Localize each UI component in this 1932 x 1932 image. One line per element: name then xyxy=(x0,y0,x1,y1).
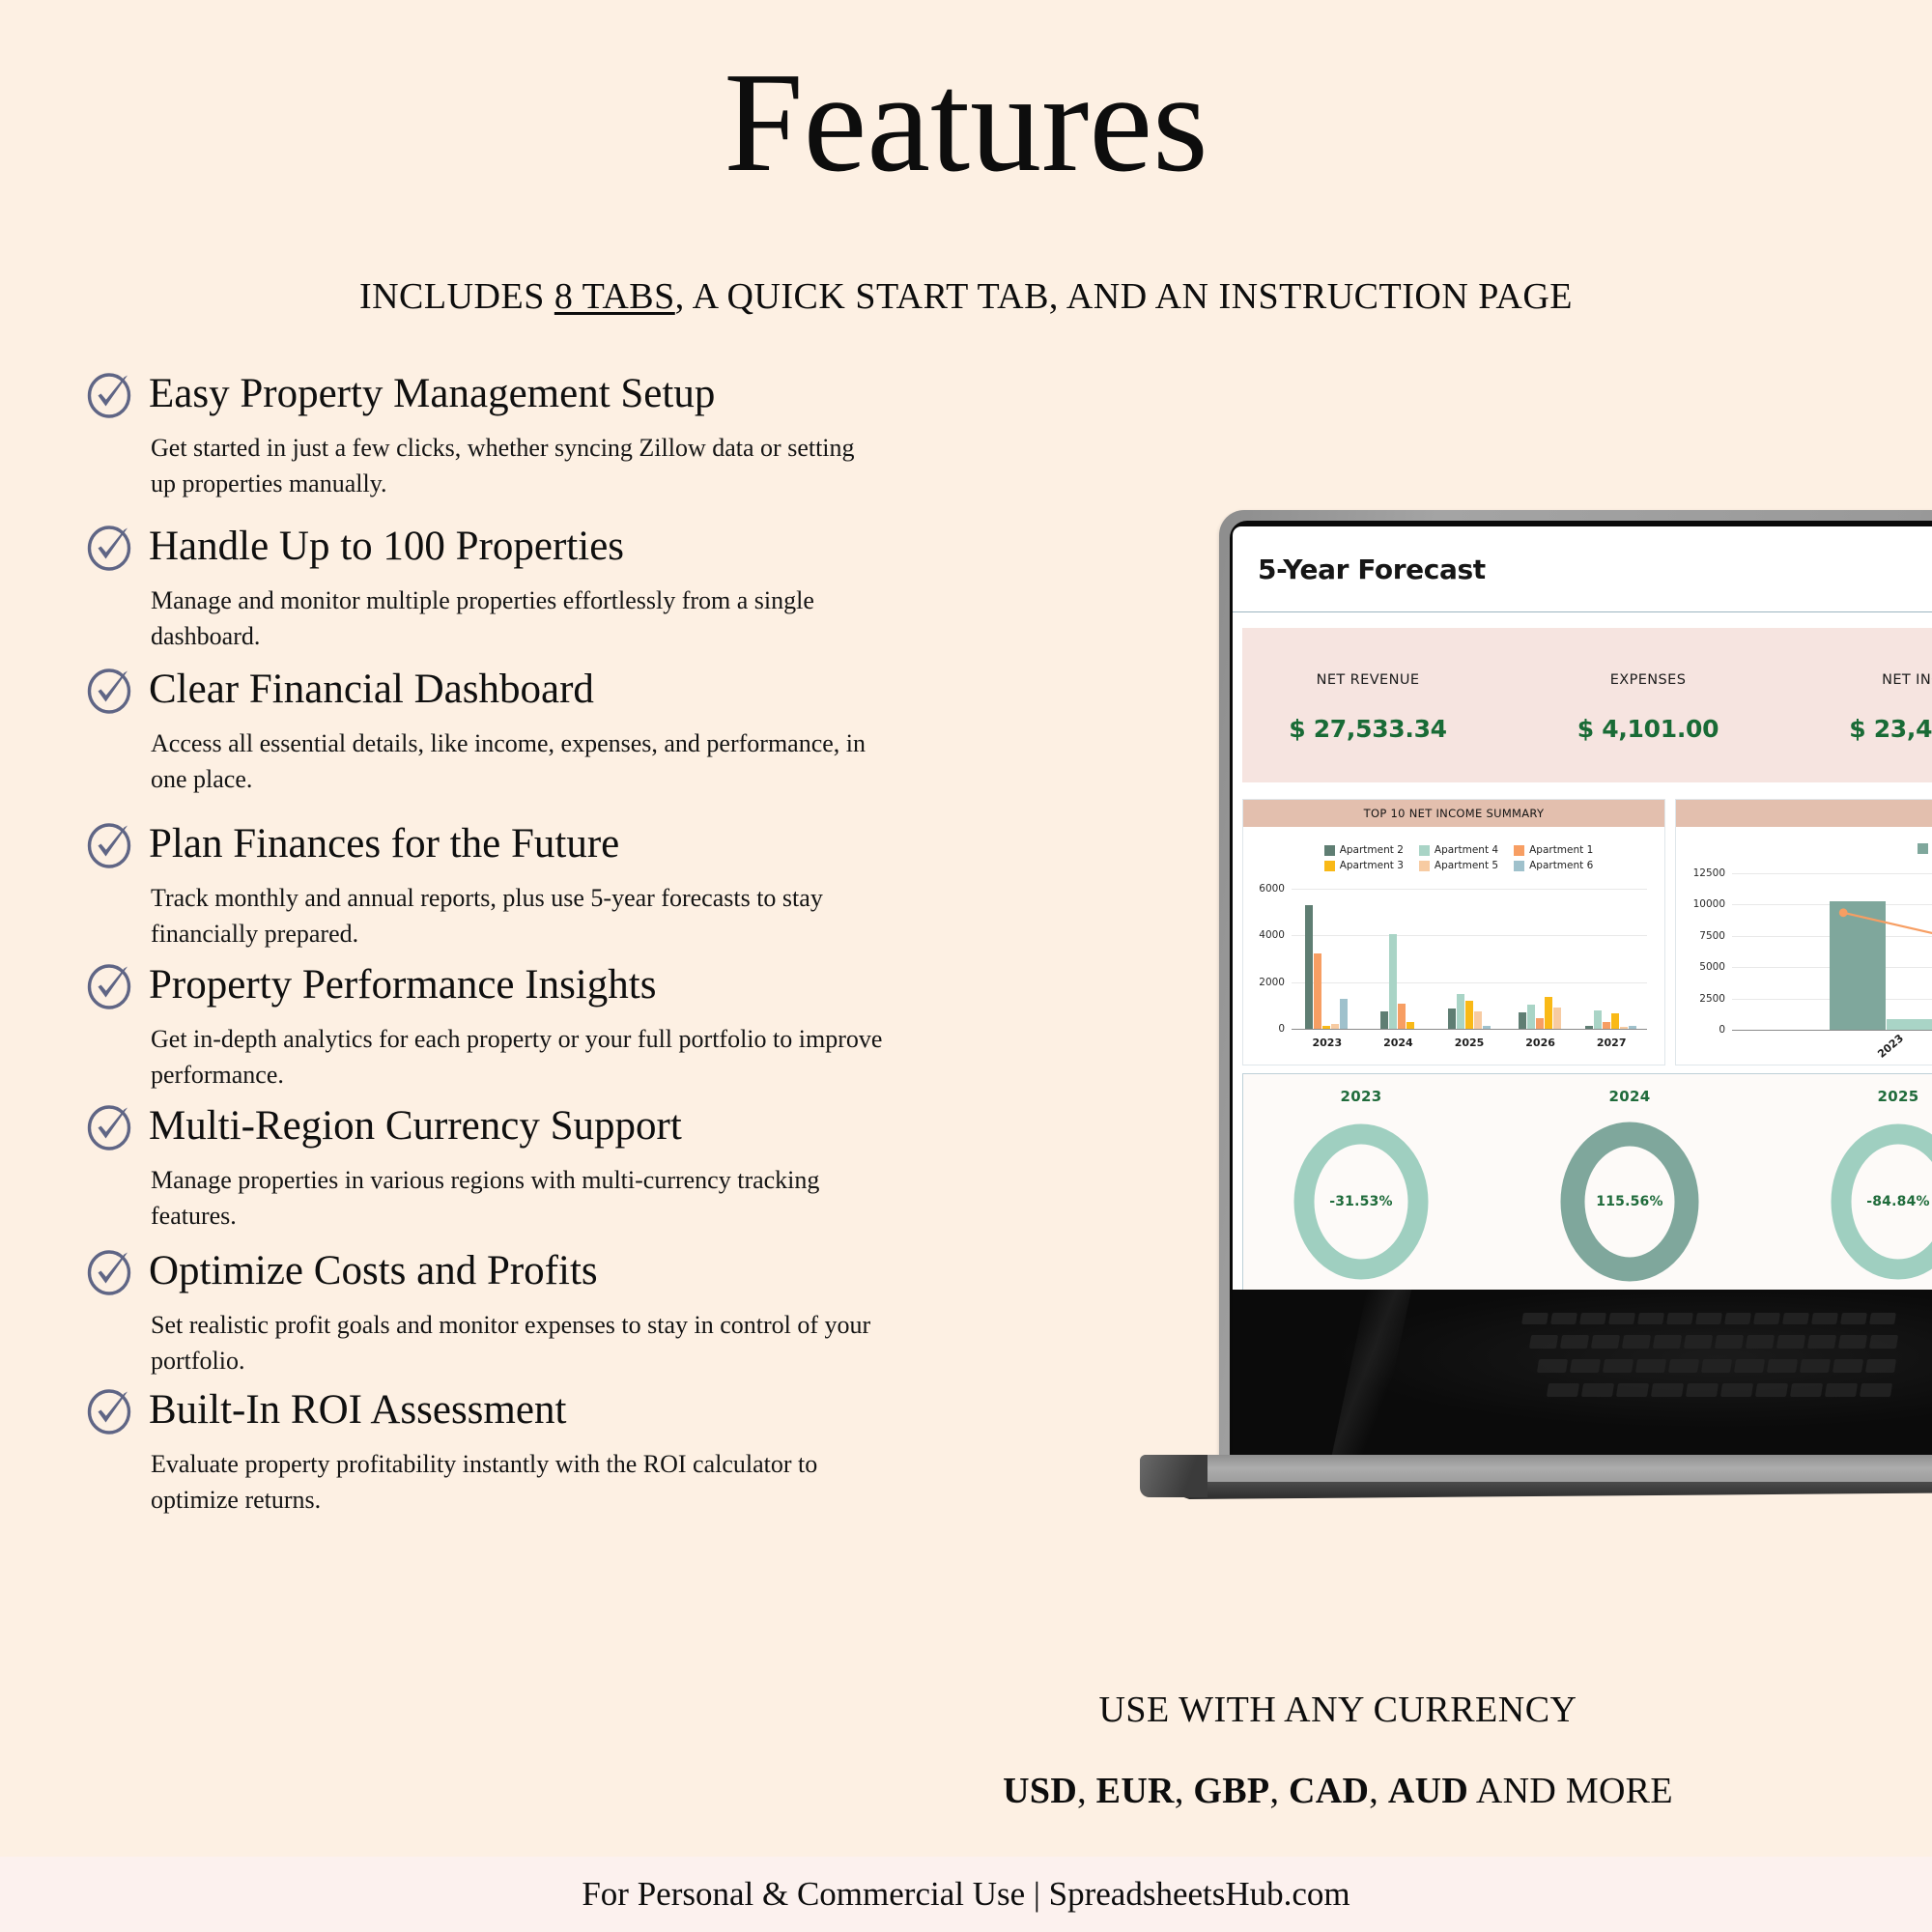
bar xyxy=(1629,1026,1636,1029)
keyboard-key xyxy=(1734,1359,1765,1373)
bar xyxy=(1620,1027,1628,1029)
bar xyxy=(1611,1013,1619,1029)
footer-bar: For Personal & Commercial Use | Spreadsh… xyxy=(0,1857,1932,1932)
kpi-net-revenue: NET REVENUE $ 27,533.34 xyxy=(1242,672,1493,743)
feature-title: Built-In ROI Assessment xyxy=(149,1388,566,1432)
keyboard-key xyxy=(1782,1313,1809,1324)
keyboard-key xyxy=(1838,1335,1867,1349)
currency-code: GBP xyxy=(1193,1771,1269,1811)
keyboard-key xyxy=(1637,1313,1664,1324)
donut-year: 2023 xyxy=(1255,1088,1467,1105)
legend-swatch xyxy=(1419,845,1430,856)
keyboard-key xyxy=(1695,1313,1722,1324)
keyboard-key xyxy=(1529,1335,1558,1349)
keyboard-key xyxy=(1560,1335,1589,1349)
feature-item: Optimize Costs and Profits Set realistic… xyxy=(85,1246,885,1379)
y-axis-tick: 12500 xyxy=(1693,867,1725,879)
x-axis-label: 2026 xyxy=(1525,1037,1555,1049)
grid-line xyxy=(1732,1030,1932,1031)
bar-group xyxy=(1380,889,1414,1029)
feature-description: Set realistic profit goals and monitor e… xyxy=(151,1308,885,1379)
x-axis-label: 2024 xyxy=(1383,1037,1413,1049)
donut-year: 2024 xyxy=(1523,1088,1736,1105)
subtitle-prefix: INCLUDES xyxy=(359,276,554,317)
feature-description: Get started in just a few clicks, whethe… xyxy=(151,431,885,502)
growth-donut-panel: 2023 -31.53% 2024 115.56% 2025 xyxy=(1242,1073,1932,1290)
keyboard-key xyxy=(1776,1335,1805,1349)
y-axis-tick: 4000 xyxy=(1259,929,1285,941)
keyboard-key xyxy=(1724,1313,1751,1324)
keyboard-key xyxy=(1622,1335,1651,1349)
legend-swatch xyxy=(1514,845,1524,856)
feature-title: Handle Up to 100 Properties xyxy=(149,525,624,568)
check-circle-icon xyxy=(85,369,135,419)
bar xyxy=(1594,1010,1602,1029)
keyboard-key xyxy=(1653,1335,1682,1349)
feature-header: Property Performance Insights xyxy=(85,960,885,1010)
donut-2024: 2024 115.56% xyxy=(1523,1088,1736,1285)
donut-ring: -31.53% xyxy=(1289,1119,1434,1285)
spreadsheet-screen: 5-Year Forecast NET REVENUE $ 27,533.34 … xyxy=(1233,526,1932,1290)
kpi-net-income: NET INCOME $ 23,432.34 xyxy=(1803,672,1932,743)
bar xyxy=(1305,905,1313,1029)
feature-item: Built-In ROI Assessment Evaluate propert… xyxy=(85,1385,885,1519)
donut-ring: -84.84% xyxy=(1826,1119,1932,1285)
keyboard-key xyxy=(1666,1313,1693,1324)
bar xyxy=(1545,997,1552,1029)
keyboard-key xyxy=(1755,1383,1788,1397)
feature-item: Easy Property Management Setup Get start… xyxy=(85,369,885,502)
legend-swatch xyxy=(1514,861,1524,871)
keyboard-key xyxy=(1635,1359,1666,1373)
legend-item: Series 1 xyxy=(1918,842,1932,854)
y-axis-tick: 0 xyxy=(1719,1024,1725,1036)
currency-code: USD xyxy=(1003,1771,1077,1811)
kpi-expenses: EXPENSES $ 4,101.00 xyxy=(1522,672,1774,743)
keyboard-key xyxy=(1807,1335,1836,1349)
bar xyxy=(1519,1012,1526,1029)
legend-label: Apartment 2 xyxy=(1340,844,1404,856)
keyboard-key xyxy=(1537,1359,1568,1373)
feature-header: Handle Up to 100 Properties xyxy=(85,522,885,572)
y-axis-tick: 7500 xyxy=(1699,930,1725,942)
keyboard-key xyxy=(1715,1335,1744,1349)
kpi-label: NET INCOME xyxy=(1803,672,1932,688)
legend-swatch xyxy=(1419,861,1430,871)
keyboard-key xyxy=(1616,1383,1649,1397)
bar xyxy=(1483,1026,1491,1029)
check-circle-icon xyxy=(85,1385,135,1435)
donut-2023: 2023 -31.53% xyxy=(1255,1088,1467,1285)
currency-block: USE WITH ANY CURRENCY USD, EUR, GBP, CAD… xyxy=(744,1689,1932,1812)
keyboard-key xyxy=(1790,1383,1823,1397)
legend-item: Apartment 1 xyxy=(1514,844,1593,856)
legend-label: Apartment 5 xyxy=(1435,860,1498,871)
check-circle-icon xyxy=(85,665,135,715)
keyboard-key xyxy=(1570,1359,1601,1373)
keyboard-key xyxy=(1550,1313,1577,1324)
laptop-base xyxy=(1140,1455,1932,1505)
bar xyxy=(1389,934,1397,1029)
bar xyxy=(1603,1022,1610,1029)
keyboard-key xyxy=(1651,1383,1684,1397)
chart-banner xyxy=(1676,800,1932,827)
y-axis-tick: 6000 xyxy=(1259,883,1285,895)
currency-heading: USE WITH ANY CURRENCY xyxy=(744,1689,1932,1731)
currency-code: CAD xyxy=(1289,1771,1369,1811)
keyboard-key xyxy=(1753,1313,1780,1324)
legend-swatch xyxy=(1918,843,1928,854)
bar xyxy=(1553,1008,1561,1029)
keyboard-key xyxy=(1668,1359,1699,1373)
subtitle: INCLUDES 8 TABS, A QUICK START TAB, AND … xyxy=(0,275,1932,318)
feature-title: Optimize Costs and Profits xyxy=(149,1249,598,1293)
legend-swatch xyxy=(1324,845,1335,856)
kpi-band: NET REVENUE $ 27,533.34 EXPENSES $ 4,101… xyxy=(1242,628,1932,782)
y-axis-tick: 2500 xyxy=(1699,993,1725,1005)
keyboard-key xyxy=(1865,1359,1896,1373)
chart-plot: 025005000750010000125002023 xyxy=(1732,873,1932,1030)
feature-header: Clear Financial Dashboard xyxy=(85,665,885,715)
grid-line xyxy=(1292,1029,1647,1030)
keyboard-key xyxy=(1581,1383,1614,1397)
bar xyxy=(1380,1011,1388,1029)
yearly-summary-chart: Series 1Series 2 02500500075001000012500… xyxy=(1675,799,1932,1065)
legend-item: Apartment 4 xyxy=(1419,844,1498,856)
x-axis-label: 2025 xyxy=(1455,1037,1485,1049)
kpi-label: NET REVENUE xyxy=(1242,672,1493,688)
keyboard-key xyxy=(1547,1383,1579,1397)
feature-item: Property Performance Insights Get in-dep… xyxy=(85,960,885,1094)
bar xyxy=(1322,1026,1330,1029)
keyboard-key xyxy=(1833,1359,1863,1373)
laptop-base-top xyxy=(1140,1455,1932,1484)
bar xyxy=(1474,1011,1482,1029)
chart-plot: 020004000600020232024202520262027 xyxy=(1292,889,1647,1029)
feature-title: Easy Property Management Setup xyxy=(149,372,715,415)
laptop-base-front xyxy=(1140,1482,1932,1499)
bar-group xyxy=(1448,889,1491,1029)
feature-item: Multi-Region Currency Support Manage pro… xyxy=(85,1101,885,1235)
bar xyxy=(1331,1024,1339,1029)
feature-description: Manage and monitor multiple properties e… xyxy=(151,583,885,655)
y-axis-tick: 0 xyxy=(1278,1023,1285,1035)
keyboard-key xyxy=(1840,1313,1867,1324)
bar xyxy=(1314,953,1321,1029)
legend-item: Apartment 3 xyxy=(1324,860,1404,871)
keyboard-key xyxy=(1579,1313,1606,1324)
kpi-value: $ 27,533.34 xyxy=(1242,715,1493,743)
feature-header: Plan Finances for the Future xyxy=(85,819,885,869)
donut-year: 2025 xyxy=(1792,1088,1932,1105)
feature-description: Access all essential details, like incom… xyxy=(151,726,885,798)
legend-label: Apartment 6 xyxy=(1529,860,1593,871)
currency-code: EUR xyxy=(1096,1771,1175,1811)
feature-header: Optimize Costs and Profits xyxy=(85,1246,885,1296)
keyboard-key xyxy=(1825,1383,1858,1397)
check-circle-icon xyxy=(85,960,135,1010)
check-circle-icon xyxy=(85,819,135,869)
keyboard-key xyxy=(1608,1313,1635,1324)
bar xyxy=(1448,1009,1456,1029)
keyboard-key xyxy=(1869,1335,1898,1349)
keyboard-key xyxy=(1686,1383,1719,1397)
feature-description: Get in-depth analytics for each property… xyxy=(151,1022,885,1094)
feature-header: Built-In ROI Assessment xyxy=(85,1385,885,1435)
bar xyxy=(1527,1005,1535,1029)
legend-item: Apartment 2 xyxy=(1324,844,1404,856)
feature-title: Property Performance Insights xyxy=(149,963,656,1007)
feature-title: Plan Finances for the Future xyxy=(149,822,619,866)
keyboard-glare xyxy=(1330,1290,1411,1459)
currency-tail: AND MORE xyxy=(1468,1771,1673,1811)
currency-list: USD, EUR, GBP, CAD, AUD AND MORE xyxy=(744,1770,1932,1812)
bar-group xyxy=(1519,889,1561,1029)
legend-item: Apartment 6 xyxy=(1514,860,1593,871)
feature-title: Multi-Region Currency Support xyxy=(149,1104,682,1148)
bar xyxy=(1585,1026,1593,1029)
chart-legend: Series 1Series 2 xyxy=(1918,842,1932,854)
laptop-keyboard-deck xyxy=(1233,1290,1932,1459)
subtitle-suffix: , A QUICK START TAB, AND AN INSTRUCTION … xyxy=(675,276,1573,317)
donut-value: -31.53% xyxy=(1289,1194,1434,1209)
feature-item: Handle Up to 100 Properties Manage and m… xyxy=(85,522,885,655)
feature-description: Evaluate property profitability instantl… xyxy=(151,1447,885,1519)
chart-banner: TOP 10 NET INCOME SUMMARY xyxy=(1243,800,1664,827)
sheet-title: 5-Year Forecast xyxy=(1258,554,1486,585)
keyboard-key xyxy=(1746,1335,1775,1349)
keyboard-key xyxy=(1869,1313,1896,1324)
check-circle-icon xyxy=(85,522,135,572)
legend-label: Apartment 1 xyxy=(1529,844,1593,856)
x-axis-label: 2023 xyxy=(1875,1032,1906,1061)
currency-code: AUD xyxy=(1388,1771,1468,1811)
footer-text: For Personal & Commercial Use | Spreadsh… xyxy=(582,1875,1350,1914)
legend-swatch xyxy=(1324,861,1335,871)
x-axis-label: 2027 xyxy=(1597,1037,1627,1049)
feature-header: Easy Property Management Setup xyxy=(85,369,885,419)
laptop-mockup: 5-Year Forecast NET REVENUE $ 27,533.34 … xyxy=(1219,510,1932,1505)
donut-value: -84.84% xyxy=(1826,1194,1932,1209)
keyboard-key xyxy=(1701,1359,1732,1373)
keyboard-key xyxy=(1603,1359,1634,1373)
chart-legend: Apartment 2Apartment 4Apartment 1Apartme… xyxy=(1280,844,1637,871)
feature-title: Clear Financial Dashboard xyxy=(149,668,594,711)
subtitle-tabs-count: 8 TABS xyxy=(554,276,675,317)
laptop-base-notch xyxy=(1140,1455,1207,1497)
bar xyxy=(1536,1018,1544,1029)
bar xyxy=(1340,999,1348,1029)
donut-ring: 115.56% xyxy=(1557,1119,1702,1285)
legend-item: Apartment 5 xyxy=(1419,860,1498,871)
keyboard-key xyxy=(1591,1335,1620,1349)
donut-value: 115.56% xyxy=(1557,1194,1702,1209)
feature-description: Track monthly and annual reports, plus u… xyxy=(151,881,885,952)
x-axis-label: 2023 xyxy=(1312,1037,1342,1049)
kpi-value: $ 4,101.00 xyxy=(1522,715,1774,743)
feature-description: Manage properties in various regions wit… xyxy=(151,1163,885,1235)
page-title: Features xyxy=(0,46,1932,201)
keyboard-key xyxy=(1811,1313,1838,1324)
top-net-income-chart: TOP 10 NET INCOME SUMMARY Apartment 2Apa… xyxy=(1242,799,1665,1065)
y-axis-tick: 10000 xyxy=(1693,898,1725,910)
kpi-label: EXPENSES xyxy=(1522,672,1774,688)
feature-item: Clear Financial Dashboard Access all ess… xyxy=(85,665,885,798)
keyboard-key xyxy=(1684,1335,1713,1349)
donut-2025: 2025 -84.84% xyxy=(1792,1088,1932,1285)
charts-row: TOP 10 NET INCOME SUMMARY Apartment 2Apa… xyxy=(1242,799,1932,1065)
bar xyxy=(1465,1001,1473,1029)
feature-header: Multi-Region Currency Support xyxy=(85,1101,885,1151)
y-axis-tick: 5000 xyxy=(1699,961,1725,973)
keyboard-key xyxy=(1767,1359,1798,1373)
legend-label: Apartment 3 xyxy=(1340,860,1404,871)
keyboard-key xyxy=(1521,1313,1548,1324)
y-axis-tick: 2000 xyxy=(1259,977,1285,988)
check-circle-icon xyxy=(85,1101,135,1151)
feature-item: Plan Finances for the Future Track month… xyxy=(85,819,885,952)
bar xyxy=(1398,1004,1406,1029)
bar xyxy=(1457,994,1464,1029)
kpi-value: $ 23,432.34 xyxy=(1803,715,1932,743)
keyboard-key xyxy=(1720,1383,1753,1397)
overlay-line-series xyxy=(1732,873,1932,1030)
keyboard-key xyxy=(1800,1359,1831,1373)
bar-group xyxy=(1305,889,1348,1029)
sheet-divider xyxy=(1233,611,1932,612)
bar-group xyxy=(1585,889,1636,1029)
keyboard-key xyxy=(1860,1383,1892,1397)
legend-label: Apartment 4 xyxy=(1435,844,1498,856)
bar xyxy=(1406,1022,1414,1029)
check-circle-icon xyxy=(85,1246,135,1296)
